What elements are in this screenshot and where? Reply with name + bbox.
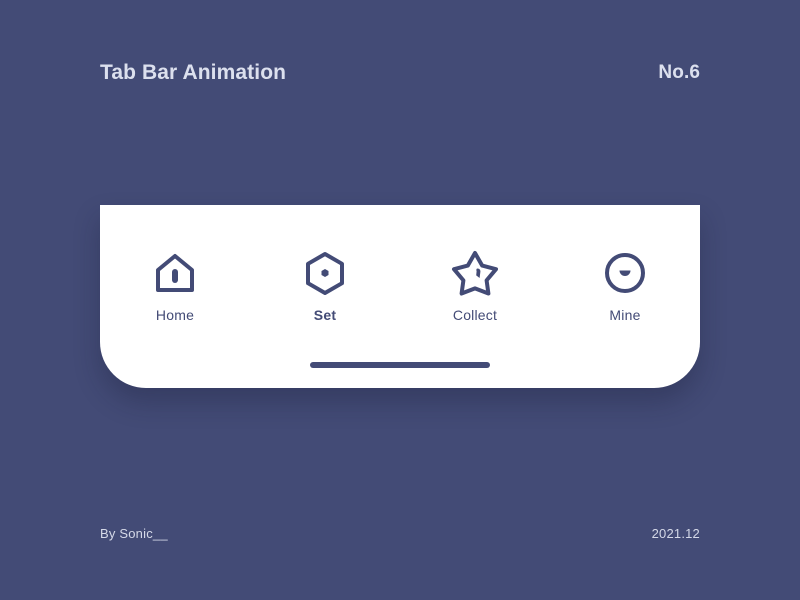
tab-label-mine: Mine (609, 308, 640, 322)
hexagon-icon[interactable] (299, 247, 351, 299)
page-number-badge: No.6 (658, 62, 700, 84)
phone-card: Home Set (100, 205, 700, 388)
tab-item-home[interactable]: Home (120, 247, 230, 322)
header: Tab Bar Animation No.6 (100, 55, 700, 91)
star-icon[interactable] (449, 247, 501, 299)
tab-label-set: Set (314, 308, 336, 322)
screen: Tab Bar Animation No.6 Home (0, 0, 800, 600)
tab-item-collect[interactable]: Collect (420, 247, 530, 322)
face-icon[interactable] (599, 247, 651, 299)
author-credit: By Sonic__ (100, 526, 168, 541)
tab-item-set[interactable]: Set (270, 247, 380, 322)
tab-item-mine[interactable]: Mine (570, 247, 680, 322)
page-title: Tab Bar Animation (100, 61, 286, 85)
house-icon[interactable] (149, 247, 201, 299)
footer: By Sonic__ 2021.12 (100, 522, 700, 544)
tab-label-collect: Collect (453, 308, 497, 322)
tab-bar: Home Set (100, 247, 700, 339)
home-indicator[interactable] (310, 362, 490, 368)
tab-label-home: Home (156, 308, 194, 322)
date-label: 2021.12 (652, 526, 700, 541)
